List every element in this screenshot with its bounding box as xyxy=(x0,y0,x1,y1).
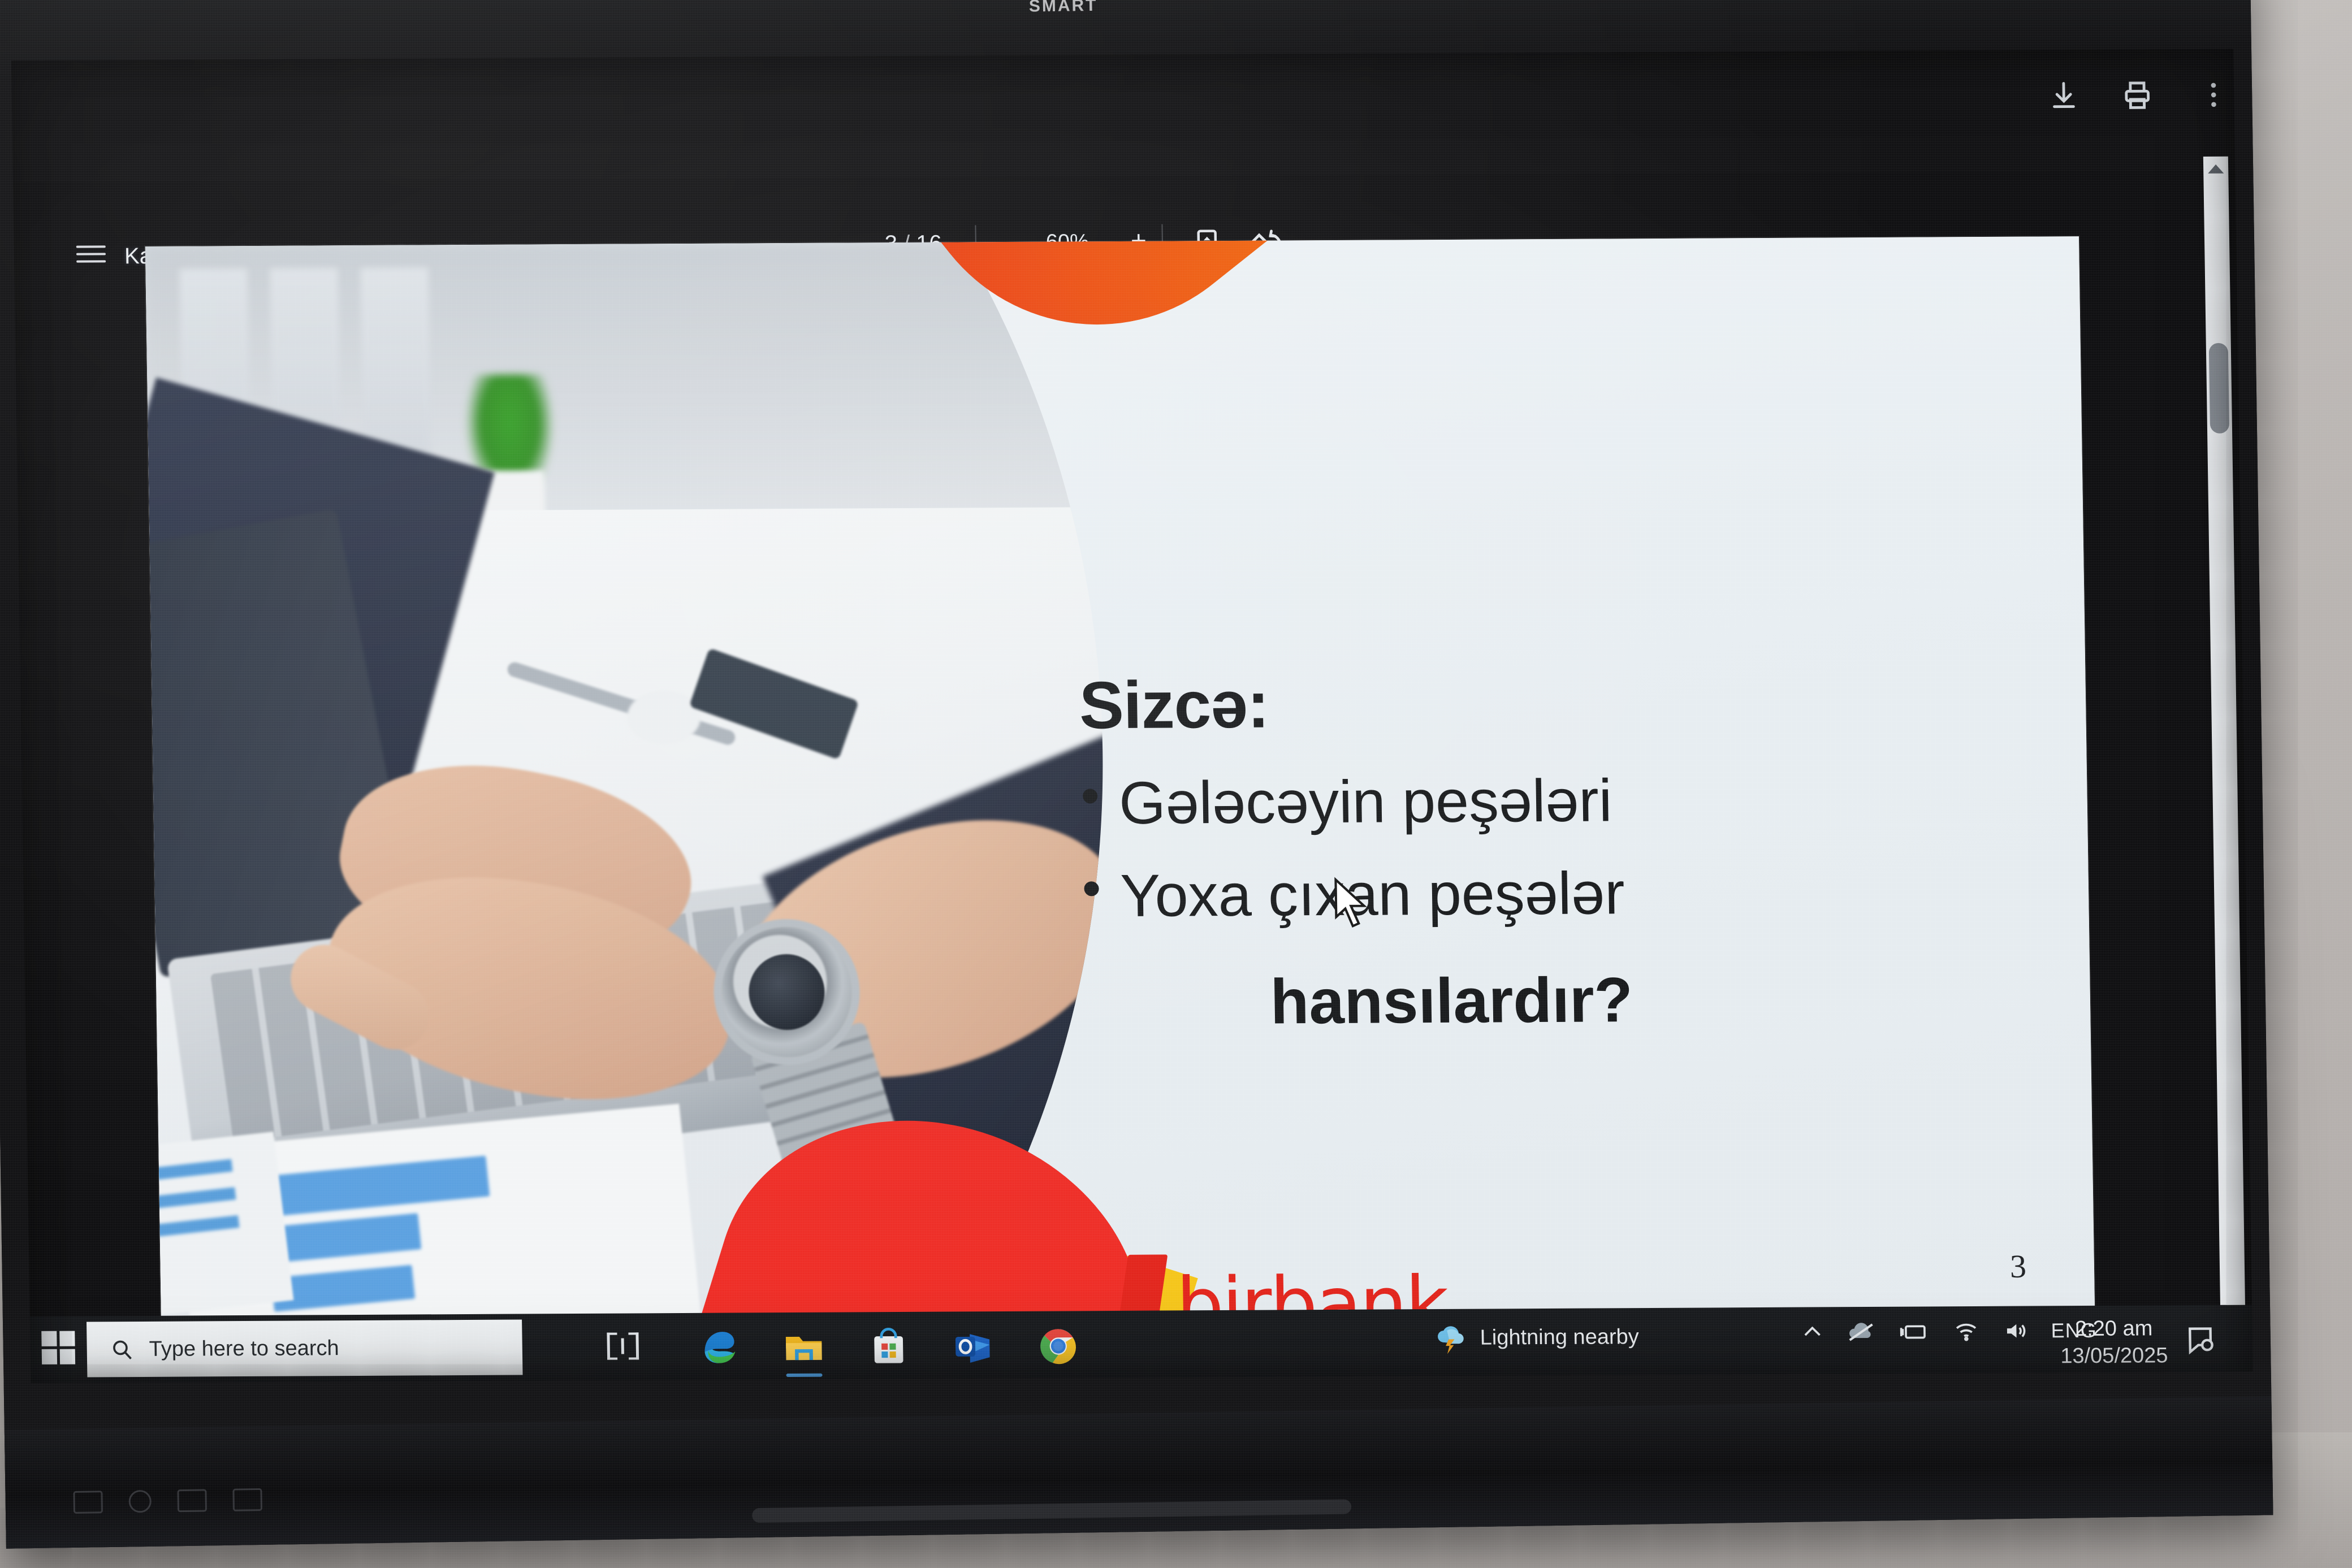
bezel-button-2[interactable] xyxy=(128,1490,152,1513)
app-active-indicator xyxy=(786,1374,823,1377)
hamburger-icon[interactable] xyxy=(76,245,106,268)
bullet-marker: • xyxy=(1080,773,1100,819)
wifi-icon[interactable] xyxy=(1952,1319,1980,1344)
slide-text-block: Sizcə: • Gələcəyin peşələri • Yoxa çıxan… xyxy=(1079,666,2068,1039)
onedrive-offline-icon[interactable] xyxy=(1846,1319,1876,1344)
scrollbar-thumb[interactable] xyxy=(2209,343,2229,434)
smart-interactive-display: SMART xyxy=(0,0,2273,1549)
search-placeholder: Type here to search xyxy=(149,1336,339,1362)
bezel-button-3[interactable] xyxy=(177,1489,207,1512)
bezel-button-1[interactable] xyxy=(73,1491,103,1514)
bezel-button-4[interactable] xyxy=(232,1488,262,1511)
clock-date: 13/05/2025 xyxy=(2060,1342,2168,1370)
weather-label: Lightning nearby xyxy=(1480,1325,1639,1350)
notification-icon[interactable] xyxy=(2184,1323,2217,1359)
windows-taskbar: Type here to search xyxy=(30,1305,2253,1383)
pdf-subtoolbar: Karyeraya doğru yol adlı_13052025 3/16 −… xyxy=(12,134,2236,214)
slide-title: Sizcə: xyxy=(1079,666,2064,741)
slide-bullet-1: • Gələcəyin peşələri xyxy=(1080,768,2065,834)
taskbar-app-file-explorer[interactable] xyxy=(782,1326,825,1369)
slide-page-number: 3 xyxy=(2009,1248,2026,1285)
clock-time: 2:20 am xyxy=(2060,1315,2168,1342)
print-icon[interactable] xyxy=(2121,79,2154,111)
windows-start-button[interactable] xyxy=(41,1331,78,1367)
taskbar-clock[interactable]: 2:20 am 13/05/2025 xyxy=(2060,1315,2168,1370)
thunderstorm-icon xyxy=(1432,1320,1468,1355)
slide-page: Sizcə: • Gələcəyin peşələri • Yoxa çıxan… xyxy=(145,236,2095,1335)
display-screen: Karyeraya doğru yol adlı_13052025 3/16 −… xyxy=(11,49,2253,1383)
chevron-up-icon[interactable] xyxy=(1800,1319,1825,1344)
taskbar-weather-widget[interactable]: Lightning nearby xyxy=(1432,1319,1639,1355)
smart-brand-logo: SMART xyxy=(978,0,1148,17)
taskbar-app-outlook[interactable] xyxy=(952,1325,995,1368)
bullet-marker: • xyxy=(1082,865,1101,912)
pdf-viewer: Karyeraya doğru yol adlı_13052025 3/16 −… xyxy=(11,49,2252,1327)
taskbar-app-google-chrome[interactable] xyxy=(1036,1324,1080,1367)
display-speaker-slot xyxy=(752,1499,1351,1523)
battery-charging-icon[interactable] xyxy=(1897,1319,1931,1344)
display-hardware-buttons[interactable] xyxy=(73,1488,262,1514)
bullet-text: Gələcəyin peşələri xyxy=(1118,770,1612,834)
system-tray: ENG xyxy=(1800,1318,2097,1345)
search-input[interactable]: Type here to search xyxy=(87,1319,522,1377)
search-icon xyxy=(109,1337,135,1362)
download-icon[interactable] xyxy=(2047,79,2081,112)
taskbar-app-microsoft-edge[interactable] xyxy=(697,1326,741,1369)
more-vertical-icon[interactable] xyxy=(2197,79,2230,111)
slide-closing-line: hansılardır? xyxy=(1270,961,2068,1038)
speaker-icon[interactable] xyxy=(2001,1319,2030,1344)
taskbar-app-microsoft-store[interactable] xyxy=(867,1326,910,1368)
bullet-text: Yoxa çıxan peşələr xyxy=(1120,863,1625,926)
scroll-up-arrow-icon[interactable] xyxy=(2208,164,2224,174)
task-view-icon[interactable] xyxy=(607,1332,639,1359)
slide-bullet-2: • Yoxa çıxan peşələr xyxy=(1082,860,2066,926)
